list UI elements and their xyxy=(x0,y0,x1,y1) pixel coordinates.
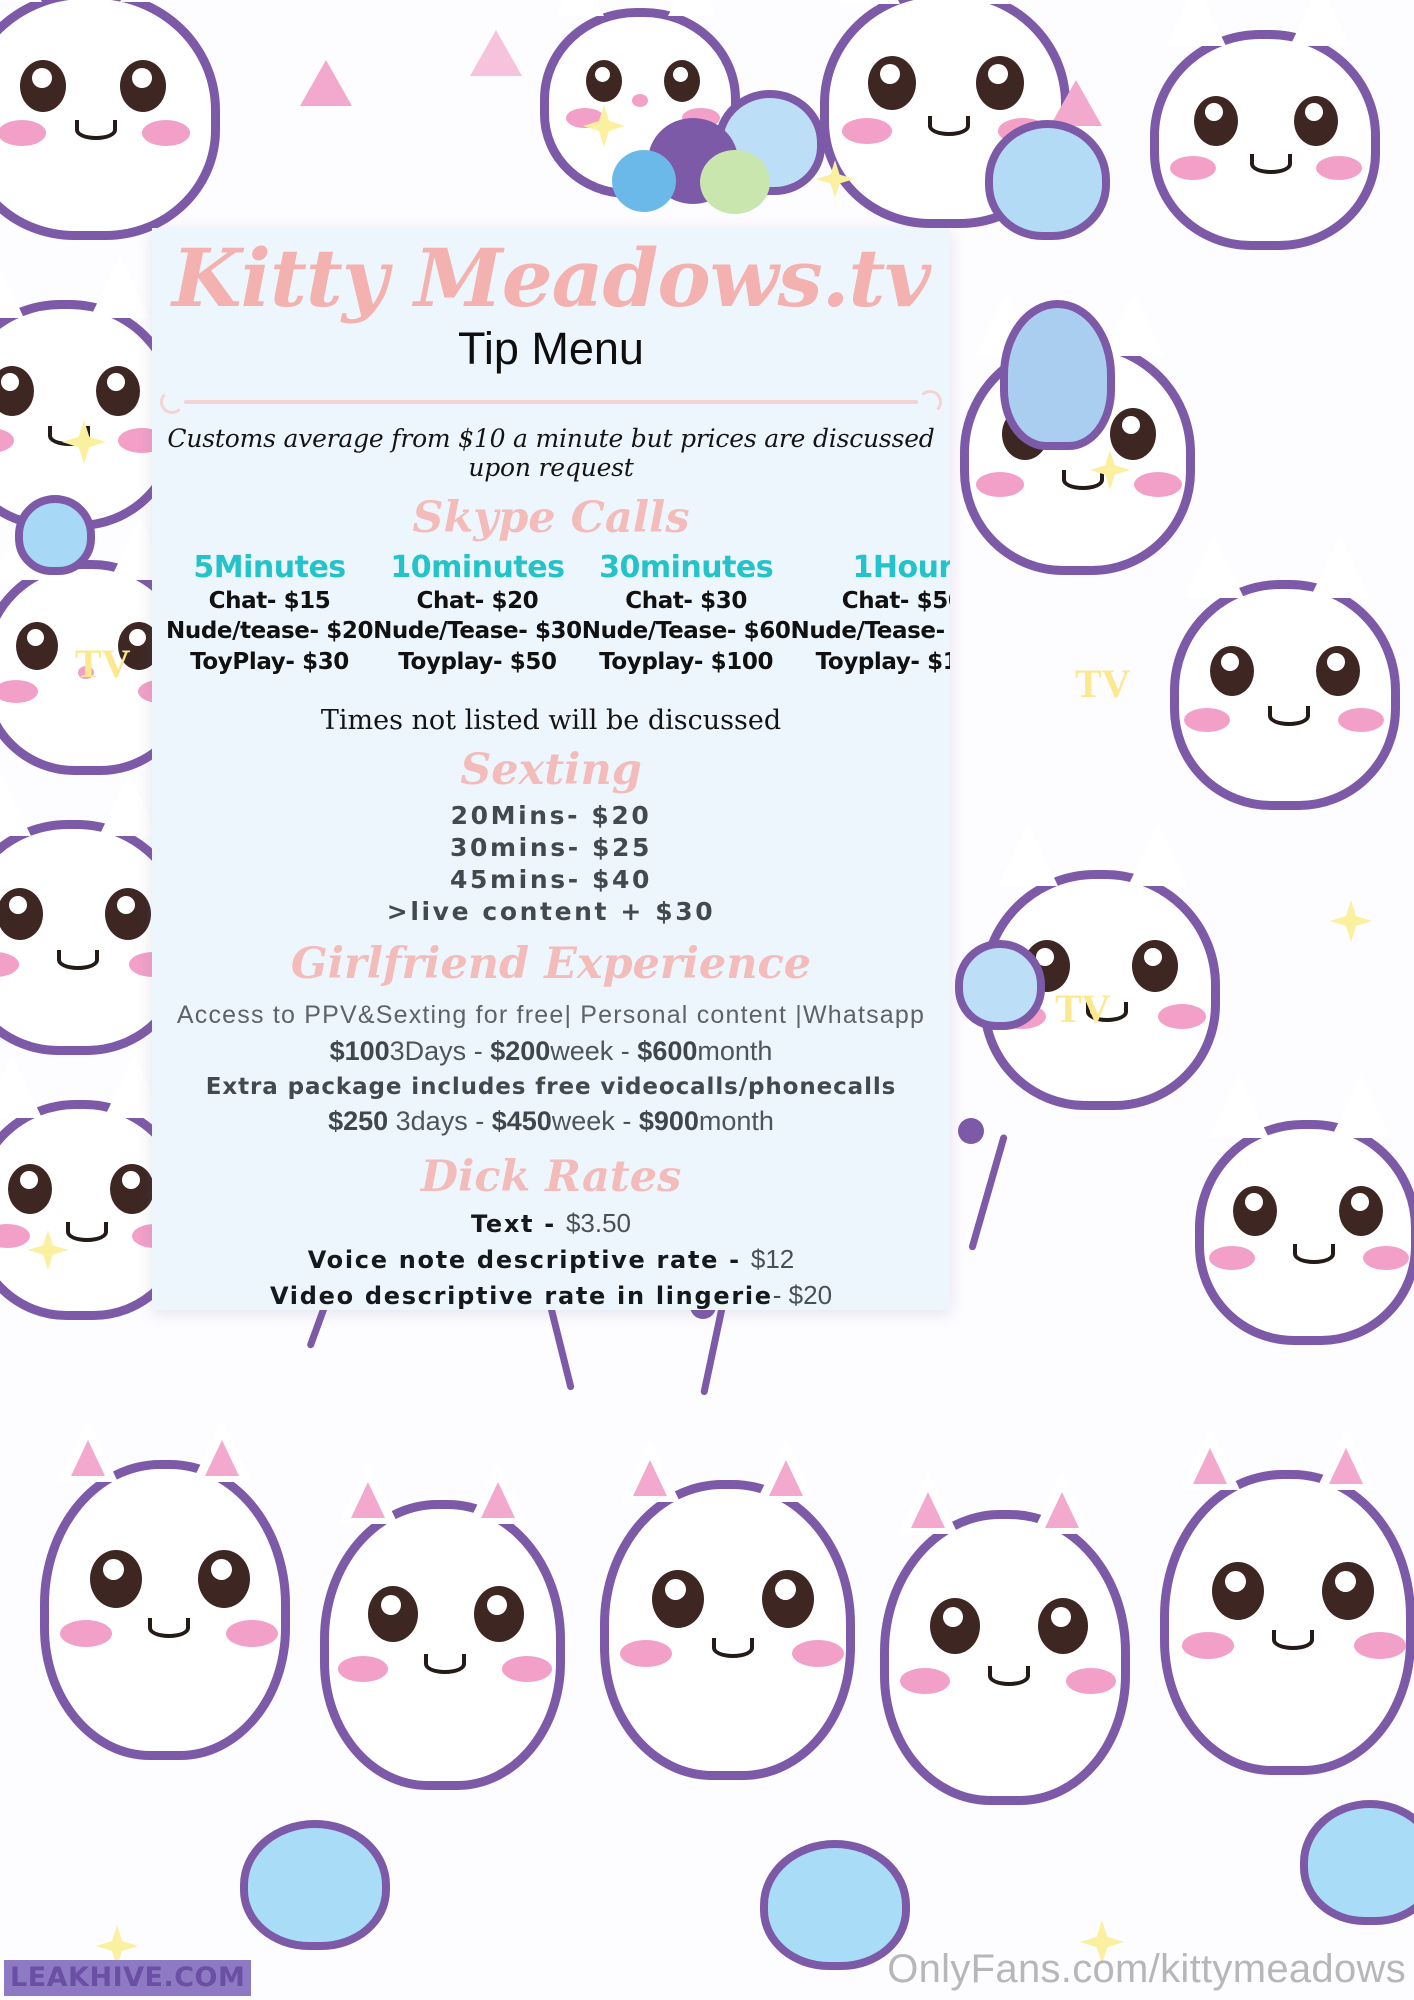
sexting-price-list: 20Mins- $20 30mins- $25 45mins- $40 >liv… xyxy=(152,800,950,928)
onlyfans-watermark: OnlyFans.com/kittymeadows xyxy=(887,1947,1406,1992)
divider xyxy=(160,393,942,411)
skype-price-line: Nude/Tease- $60 xyxy=(582,616,791,647)
dick-rate-item: Video descriptive rate in lingerie- $20 xyxy=(152,1278,950,1310)
gfe-access-line: Access to PPV&Sexting for free| Personal… xyxy=(152,1001,950,1030)
decor-balloon xyxy=(15,495,95,575)
skype-column: 30minutes Chat- $30 Nude/Tease- $60 Toyp… xyxy=(582,551,791,677)
brand-title: Kitty Meadows.tv xyxy=(152,238,950,318)
gfe-tier1-term-3: month xyxy=(697,1036,772,1066)
skype-price-line: Chat- $30 xyxy=(582,586,791,617)
sexting-price-line: 45mins- $40 xyxy=(152,864,950,896)
dick-rate-label: Video descriptive rate in lingerie xyxy=(270,1282,773,1310)
section-heading-dick-rates: Dick Rates xyxy=(152,1155,950,1200)
skype-price-line: Nude/Tease- $100 xyxy=(790,616,950,647)
skype-duration-label: 30minutes xyxy=(582,551,791,586)
decor-balloon xyxy=(1300,1800,1414,1925)
section-heading-skype: Skype Calls xyxy=(152,496,950,541)
skype-pricing-grid: 5Minutes Chat- $15 Nude/tease- $20 ToyPl… xyxy=(152,551,950,677)
skype-footnote: Times not listed will be discussed xyxy=(152,705,950,736)
gfe-tier-2: $250 3days - $450week - $900month xyxy=(152,1104,950,1139)
decor-antenna-tip xyxy=(958,1118,984,1144)
gfe-tier1-term-2: week xyxy=(550,1036,613,1066)
divider-line xyxy=(184,400,918,404)
gfe-extra-note: Extra package includes free videocalls/p… xyxy=(152,1074,950,1100)
decor-balloon xyxy=(240,1820,390,1950)
divider-cap-right xyxy=(918,390,942,414)
decor-tv-text: TV xyxy=(1055,985,1111,1032)
dick-rate-item: Text - $3.50 xyxy=(152,1206,950,1242)
gfe-tier1-price-3: $600 xyxy=(637,1036,697,1066)
gfe-tier2-term-2: week xyxy=(552,1106,615,1136)
decor-balloon xyxy=(955,940,1045,1030)
skype-price-line: Chat- $20 xyxy=(373,586,582,617)
gfe-tier1-price-2: $200 xyxy=(490,1036,550,1066)
tip-menu-card: Kitty Meadows.tv Tip Menu Customs averag… xyxy=(152,228,950,1310)
skype-price-line: Toyplay- $50 xyxy=(373,647,582,678)
gfe-tier2-price-1: $250 xyxy=(328,1106,388,1136)
gfe-tier2-price-2: $450 xyxy=(492,1106,552,1136)
section-heading-gfe: Girlfriend Experience xyxy=(152,942,950,987)
gfe-sep: - xyxy=(466,1036,490,1066)
skype-duration-label: 10minutes xyxy=(373,551,582,586)
decor-balloon xyxy=(1000,300,1115,450)
decor-star xyxy=(1330,900,1372,942)
decor-antenna xyxy=(545,1297,575,1391)
skype-price-line: Nude/Tease- $30 xyxy=(373,616,582,647)
skype-price-line: Toyplay- $170 xyxy=(790,647,950,678)
skype-duration-label: 5Minutes xyxy=(166,551,373,586)
sexting-addon-line: >live content + $30 xyxy=(152,896,950,928)
leakhive-watermark: LEAKHIVE.COM xyxy=(4,1960,251,1996)
skype-price-line: Nude/tease- $20 xyxy=(166,616,373,647)
gfe-tier2-term-3: month xyxy=(699,1106,774,1136)
decor-blob xyxy=(700,150,770,214)
skype-column: 10minutes Chat- $20 Nude/Tease- $30 Toyp… xyxy=(373,551,582,677)
decor-tv-text: TV xyxy=(1075,660,1131,707)
skype-price-line: Chat- $15 xyxy=(166,586,373,617)
gfe-sep: - xyxy=(615,1106,639,1136)
sexting-price-line: 30mins- $25 xyxy=(152,832,950,864)
skype-price-line: Toyplay- $100 xyxy=(582,647,791,678)
decor-ear-shape xyxy=(470,30,522,76)
gfe-sep: - xyxy=(468,1106,492,1136)
skype-price-line: Chat- $50 xyxy=(790,586,950,617)
skype-column: 5Minutes Chat- $15 Nude/tease- $20 ToyPl… xyxy=(166,551,373,677)
decor-antenna xyxy=(700,1306,726,1395)
decor-balloon xyxy=(985,120,1110,240)
decor-blob xyxy=(612,150,676,212)
dick-rate-price: - $20 xyxy=(773,1280,832,1310)
dick-rate-label: Voice note descriptive rate - xyxy=(308,1246,751,1274)
dick-rate-price: $12 xyxy=(751,1244,794,1274)
section-heading-sexting: Sexting xyxy=(152,748,950,793)
gfe-tier2-term-1: 3days xyxy=(388,1106,468,1136)
page-title: Tip Menu xyxy=(152,326,950,371)
skype-column: 1Hour Chat- $50 Nude/Tease- $100 Toyplay… xyxy=(790,551,950,677)
dick-rate-price: $3.50 xyxy=(566,1208,631,1238)
dick-rate-label: Text - xyxy=(471,1210,566,1238)
decor-tv-text: TV xyxy=(75,640,131,687)
gfe-tier2-price-3: $900 xyxy=(639,1106,699,1136)
divider-cap-left xyxy=(160,390,184,414)
skype-price-line: ToyPlay- $30 xyxy=(166,647,373,678)
sexting-price-line: 20Mins- $20 xyxy=(152,800,950,832)
decor-antenna xyxy=(968,1134,1008,1251)
gfe-tier1-term-1: 3Days xyxy=(390,1036,467,1066)
gfe-tier1-price-1: $100 xyxy=(330,1036,390,1066)
decor-ear-shape xyxy=(1050,80,1102,126)
decor-ear-shape xyxy=(300,60,352,106)
dick-rate-item: Voice note descriptive rate - $12 xyxy=(152,1242,950,1278)
gfe-sep: - xyxy=(613,1036,637,1066)
skype-duration-label: 1Hour xyxy=(790,551,950,586)
dick-rates-list: Text - $3.50 Voice note descriptive rate… xyxy=(152,1206,950,1310)
customs-note: Customs average from $10 a minute but pr… xyxy=(152,424,950,482)
gfe-tier-1: $1003Days - $200week - $600month xyxy=(152,1034,950,1069)
